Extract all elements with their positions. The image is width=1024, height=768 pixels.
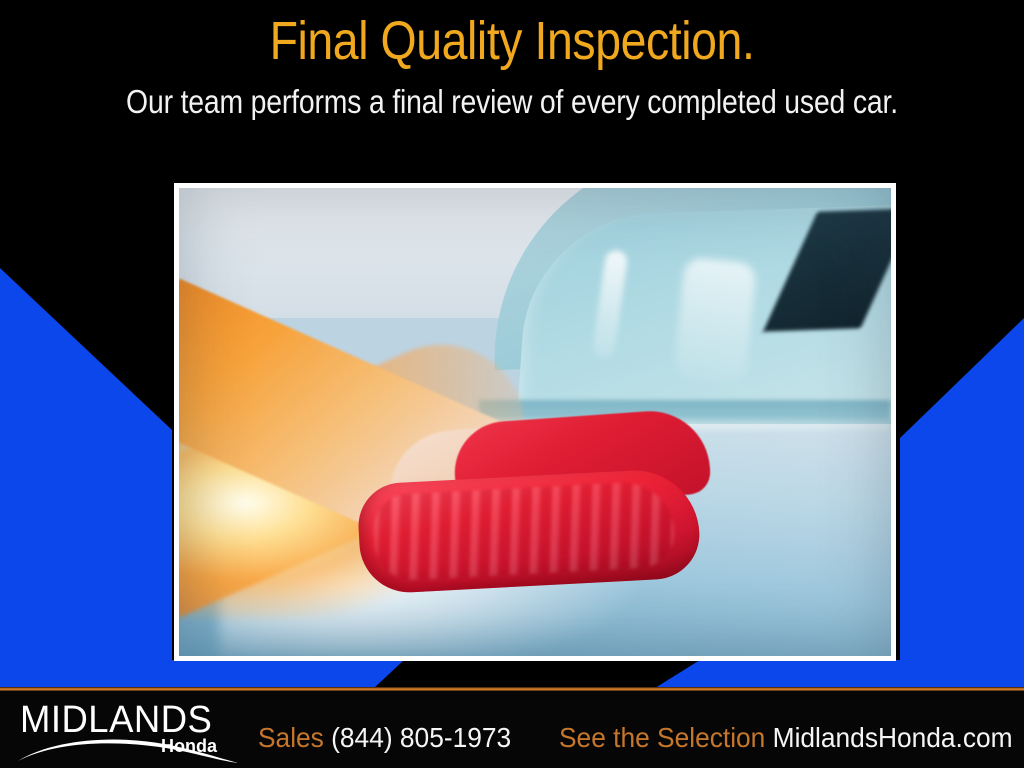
- dealer-logo[interactable]: MIDLANDS Honda: [20, 700, 245, 762]
- photo-frame: [174, 183, 896, 661]
- page-subtitle: Our team performs a final review of ever…: [72, 84, 953, 120]
- page-title: Final Quality Inspection.: [72, 12, 953, 70]
- blue-wedge-left: [0, 250, 200, 690]
- sales-label: Sales: [258, 722, 324, 753]
- logo-brand-text: MIDLANDS: [20, 700, 212, 740]
- photo-cloth-folds: [372, 480, 676, 582]
- photo-windshield-glare-b: [673, 257, 757, 384]
- website-url[interactable]: MidlandsHonda.com: [773, 722, 1013, 753]
- sales-contact[interactable]: Sales (844) 805-1973: [258, 722, 511, 754]
- advertisement-banner: Final Quality Inspection. Our team perfo…: [0, 0, 1024, 768]
- hero-photo: [179, 188, 891, 656]
- logo-swoosh-icon: [16, 736, 248, 766]
- sales-phone[interactable]: (844) 805-1973: [331, 722, 511, 753]
- blue-band-bottom-left: [0, 660, 440, 688]
- blue-band-bottom-right: [620, 660, 1024, 688]
- selection-link[interactable]: See the Selection MidlandsHonda.com: [559, 722, 1013, 754]
- headline-block: Final Quality Inspection. Our team perfo…: [0, 0, 1024, 140]
- selection-label: See the Selection: [559, 722, 765, 753]
